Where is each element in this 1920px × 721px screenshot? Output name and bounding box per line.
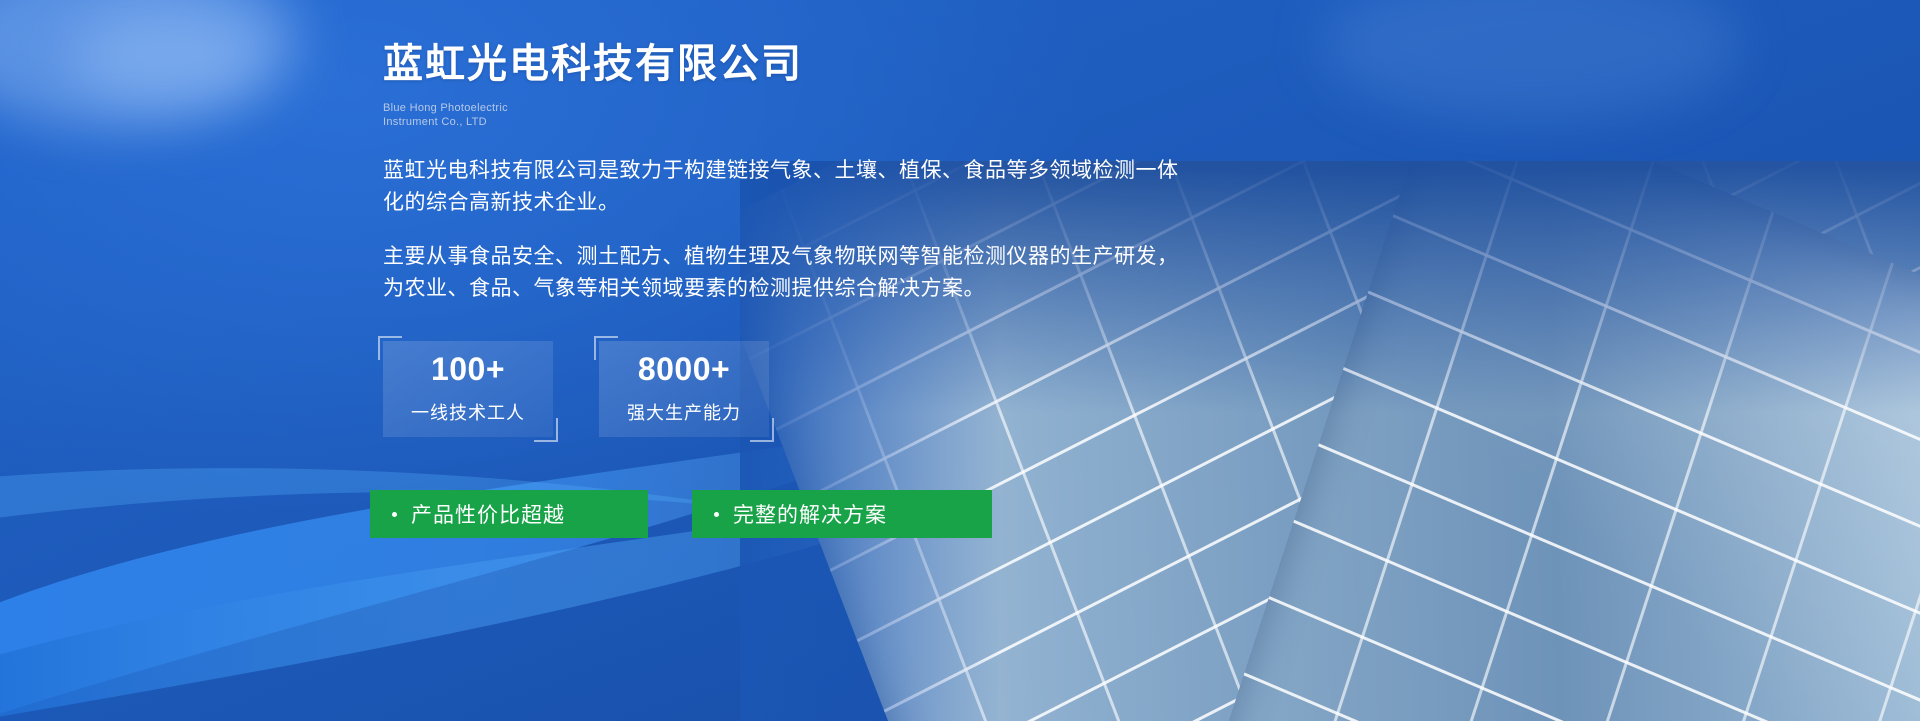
stat-value: 100+ [431,353,505,385]
bullet-dot-icon [714,512,719,517]
feature-tag-solution[interactable]: 完整的解决方案 [692,490,992,538]
feature-tag-label: 产品性价比超越 [411,499,565,529]
stat-value: 8000+ [638,353,730,385]
stat-card-capacity: 8000+ 强大生产能力 [599,341,769,437]
company-name: 蓝虹光电科技有限公司 [383,0,1583,87]
stats-group: 100+ 一线技术工人 8000+ 强大生产能力 [383,305,1583,437]
banner-content: 蓝虹光电科技有限公司 Blue Hong Photoelectric Instr… [383,0,1583,437]
stat-card-workers: 100+ 一线技术工人 [383,341,553,437]
company-en-line-1: Blue Hong Photoelectric [383,101,1583,115]
company-description-1: 蓝虹光电科技有限公司是致力于构建链接气象、土壤、植保、食品等多领域检测一体化的综… [383,129,1183,219]
cloud-decoration [0,0,300,130]
stat-label: 强大生产能力 [627,399,741,425]
company-en-line-2: Instrument Co., LTD [383,115,1583,129]
company-description-2: 主要从事食品安全、测土配方、植物生理及气象物联网等智能检测仪器的生产研发，为农业… [383,219,1183,305]
stat-label: 一线技术工人 [411,399,525,425]
bullet-dot-icon [392,512,397,517]
feature-tag-label: 完整的解决方案 [733,499,887,529]
feature-tag-value[interactable]: 产品性价比超越 [370,490,648,538]
company-name-english: Blue Hong Photoelectric Instrument Co., … [383,101,1583,129]
hero-banner: 蓝虹光电科技有限公司 Blue Hong Photoelectric Instr… [0,0,1920,721]
feature-tags-group: 产品性价比超越 完整的解决方案 [370,490,992,538]
cloud-decoration [70,10,260,100]
